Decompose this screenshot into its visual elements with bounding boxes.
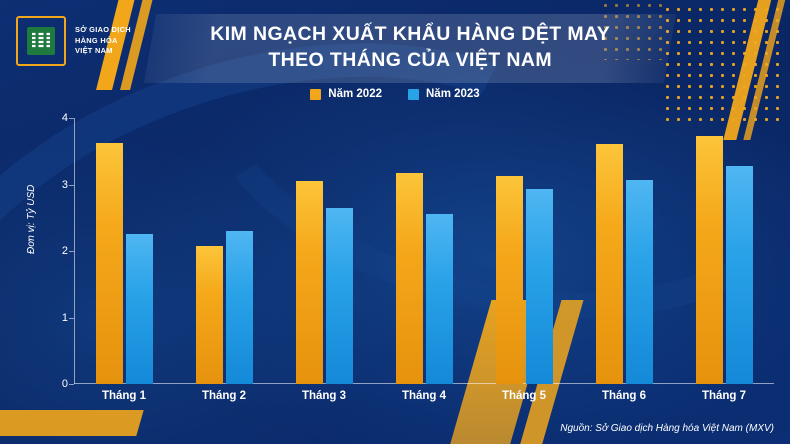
bar-2023: [326, 208, 353, 384]
logo-mark-icon: [16, 16, 66, 66]
chart-legend: Năm 2022 Năm 2023: [0, 88, 790, 100]
legend-swatch-2022: [310, 89, 321, 100]
background-yellow-bar-bottom: [0, 410, 144, 436]
logo-line-2: HÀNG HÓA: [75, 36, 131, 47]
title-banner: KIM NGẠCH XUẤT KHẨU HÀNG DỆT MAY THEO TH…: [144, 14, 676, 83]
bar-group: Tháng 7: [674, 118, 774, 384]
x-axis-tick-label: Tháng 1: [74, 390, 174, 402]
legend-label-2022: Năm 2022: [328, 88, 382, 100]
bar-2022: [196, 246, 223, 384]
chart-plot-area: 01234 Tháng 1Tháng 2Tháng 3Tháng 4Tháng …: [74, 118, 774, 384]
bar-2023: [226, 231, 253, 384]
x-axis-tick-label: Tháng 6: [574, 390, 674, 402]
bar-group: Tháng 4: [374, 118, 474, 384]
legend-item-2022: Năm 2022: [310, 88, 382, 100]
x-axis-tick-label: Tháng 3: [274, 390, 374, 402]
y-axis-tick-label: 0: [48, 378, 68, 390]
y-axis-tick-label: 2: [48, 245, 68, 257]
bar-2022: [96, 143, 123, 384]
bar-groups: Tháng 1Tháng 2Tháng 3Tháng 4Tháng 5Tháng…: [74, 118, 774, 384]
bar-2022: [396, 173, 423, 384]
page-title-line-2: THEO THÁNG CỦA VIỆT NAM: [150, 48, 670, 74]
bar-group: Tháng 1: [74, 118, 174, 384]
bar-2022: [596, 144, 623, 384]
source-note: Nguồn: Sở Giao dịch Hàng hóa Việt Nam (M…: [560, 423, 774, 434]
y-axis-tick-label: 4: [48, 112, 68, 124]
legend-label-2023: Năm 2023: [426, 88, 480, 100]
bar-2023: [626, 180, 653, 384]
bar-group: Tháng 5: [474, 118, 574, 384]
bar-2022: [696, 136, 723, 384]
y-axis-label: Đơn vị: Tỷ USD: [26, 185, 37, 254]
logo-line-3: VIỆT NAM: [75, 46, 131, 57]
legend-swatch-2023: [408, 89, 419, 100]
bar-2022: [496, 176, 523, 384]
y-axis-tick-label: 3: [48, 179, 68, 191]
page-title-line-1: KIM NGẠCH XUẤT KHẨU HÀNG DỆT MAY: [150, 22, 670, 48]
bar-group: Tháng 6: [574, 118, 674, 384]
bar-chart: Đơn vị: Tỷ USD 01234 Tháng 1Tháng 2Tháng…: [0, 104, 790, 394]
x-axis-tick-label: Tháng 7: [674, 390, 774, 402]
bar-2023: [126, 234, 153, 384]
x-axis-tick-label: Tháng 4: [374, 390, 474, 402]
logo-line-1: SỞ GIAO DỊCH: [75, 25, 131, 36]
y-axis-tick-mark: [69, 384, 74, 385]
legend-item-2023: Năm 2023: [408, 88, 480, 100]
y-axis-tick-label: 1: [48, 312, 68, 324]
bar-group: Tháng 2: [174, 118, 274, 384]
bar-group: Tháng 3: [274, 118, 374, 384]
bar-2023: [426, 214, 453, 384]
logo-text: SỞ GIAO DỊCH HÀNG HÓA VIỆT NAM: [75, 25, 131, 57]
x-axis-tick-label: Tháng 5: [474, 390, 574, 402]
bar-2023: [726, 166, 753, 384]
brand-logo: SỞ GIAO DỊCH HÀNG HÓA VIỆT NAM: [16, 16, 131, 66]
bar-2022: [296, 181, 323, 384]
bar-2023: [526, 189, 553, 384]
x-axis-tick-label: Tháng 2: [174, 390, 274, 402]
